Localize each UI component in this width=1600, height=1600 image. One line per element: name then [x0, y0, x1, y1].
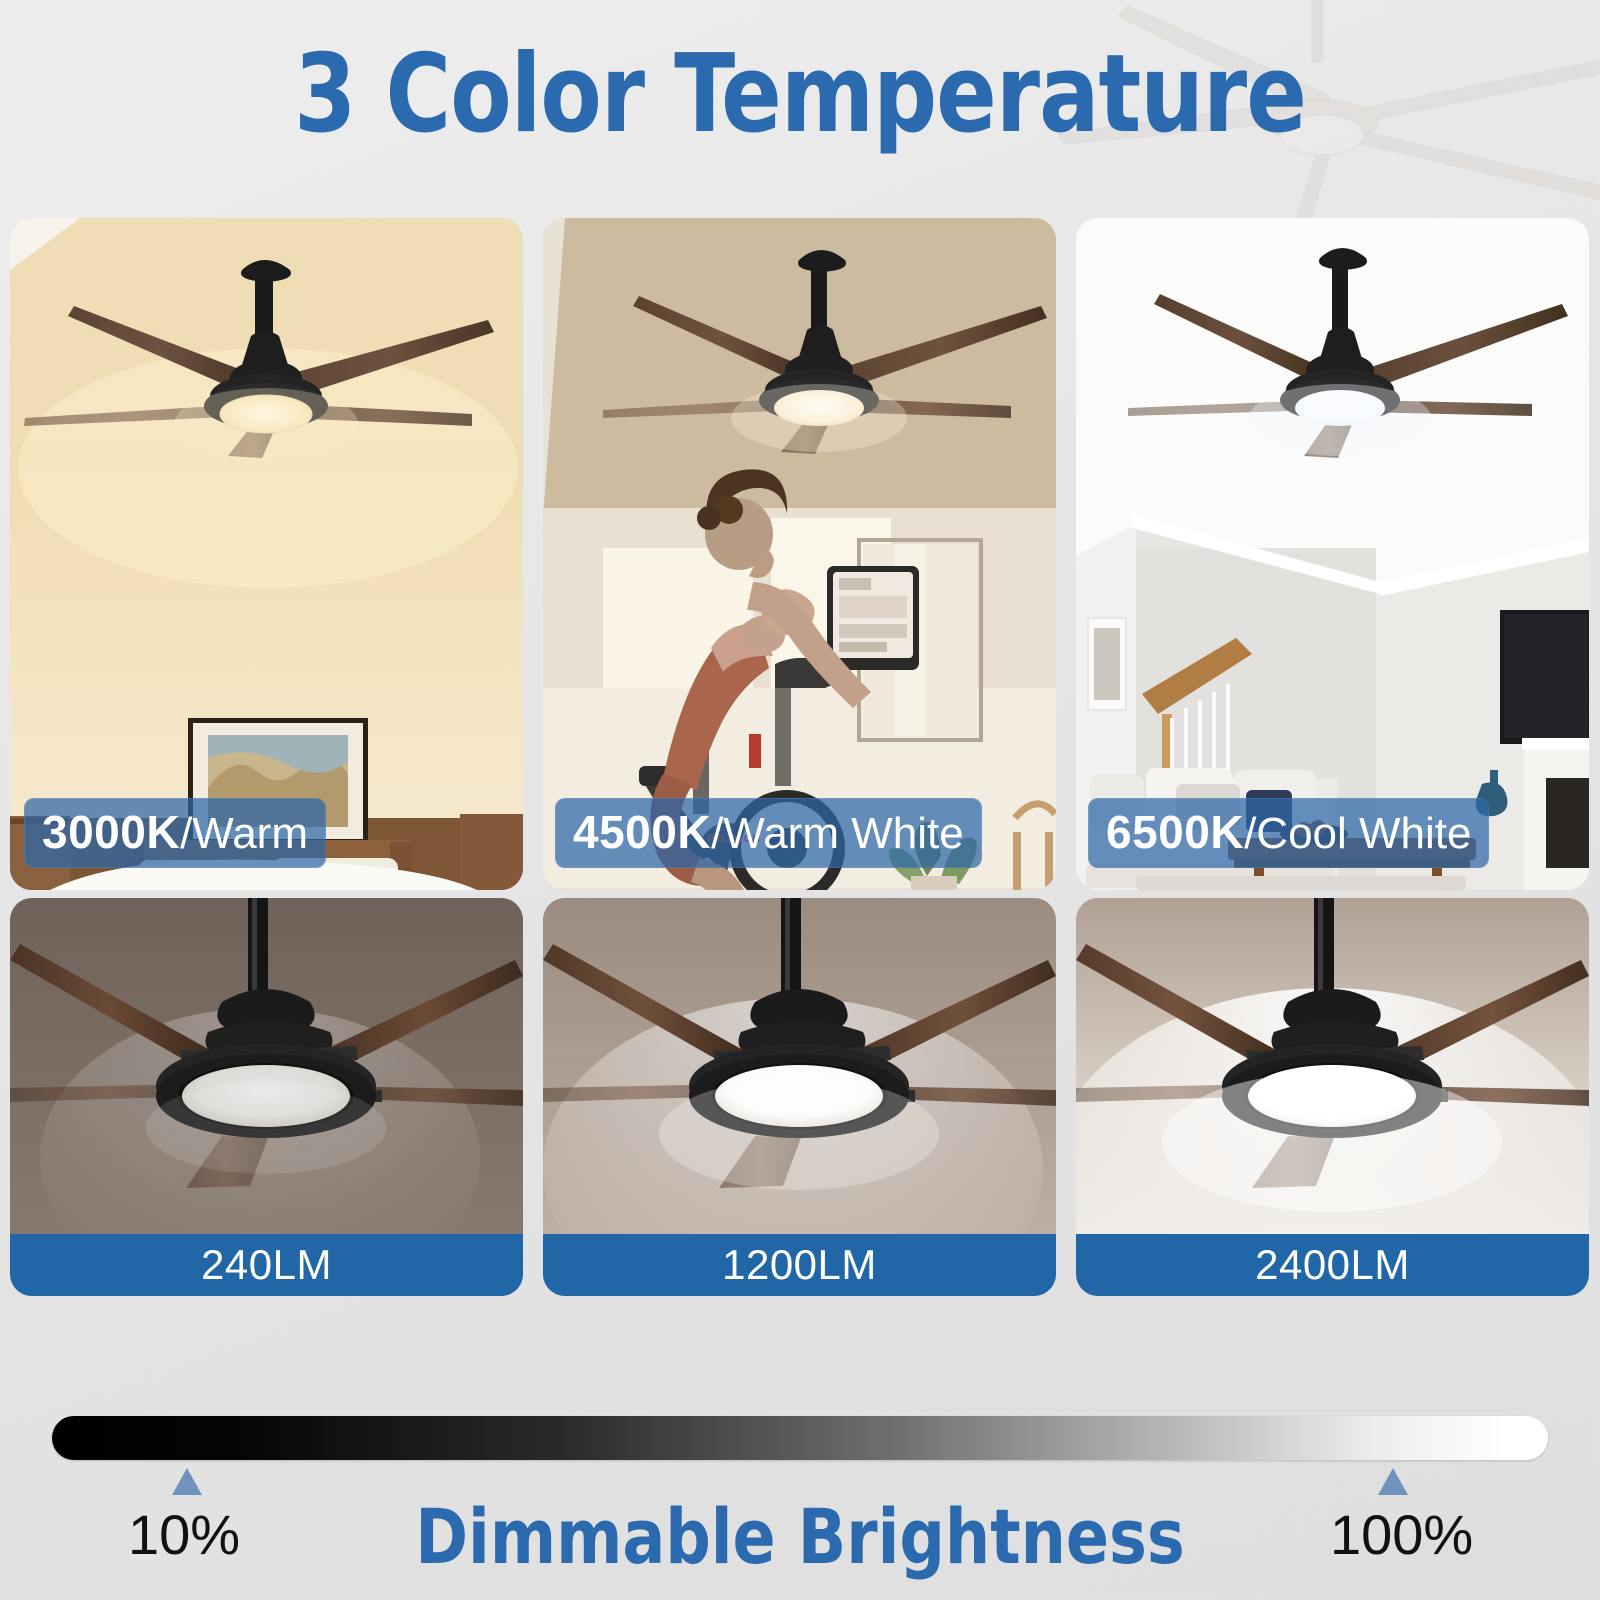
brightness-card-240lm[interactable]: 240LM: [10, 898, 523, 1296]
brightness-label-1200lm: 1200LM: [543, 1234, 1056, 1296]
ceiling-fan-overlay: [543, 218, 1056, 890]
page-header: 3 Color Temperature: [0, 38, 1600, 151]
kelvin-name: Cool White: [1256, 809, 1471, 859]
lumen-value: 2400LM: [1255, 1241, 1410, 1289]
brightness-card-2400lm[interactable]: 2400LM: [1076, 898, 1589, 1296]
brightness-card-1200lm[interactable]: 1200LM: [543, 898, 1056, 1296]
brightness-gradient-track[interactable]: [52, 1416, 1548, 1460]
page-title: 3 Color Temperature: [64, 38, 1536, 151]
lumen-value: 240LM: [201, 1241, 332, 1289]
color-temperature-label-cool-white: 6500K / Cool White: [1088, 798, 1489, 868]
color-temperature-card-warm-white[interactable]: PELOTON: [543, 218, 1056, 890]
feature-grid: 3000K / Warm: [10, 218, 1590, 1296]
color-temperature-row: 3000K / Warm: [10, 218, 1590, 890]
dimmer-title: Dimmable Brightness: [56, 1492, 1544, 1581]
brightness-min-marker-icon: [172, 1468, 202, 1495]
bedroom-scene: [10, 218, 523, 890]
color-temperature-card-warm[interactable]: 3000K / Warm: [10, 218, 523, 890]
living-room-scene: [1076, 218, 1589, 890]
dimmer-section: 10% 100% Dimmable Brightness: [0, 1400, 1600, 1600]
brightness-row: 240LM: [10, 898, 1590, 1296]
kelvin-name: Warm: [192, 809, 308, 859]
brightness-label-240lm: 240LM: [10, 1234, 523, 1296]
color-temperature-card-cool-white[interactable]: 6500K / Cool White: [1076, 218, 1589, 890]
brightness-max-marker-icon: [1378, 1468, 1408, 1495]
kelvin-value: 3000K: [42, 805, 180, 859]
kelvin-value: 6500K: [1106, 805, 1244, 859]
lumen-value: 1200LM: [722, 1241, 877, 1289]
kelvin-separator: /: [180, 809, 192, 859]
color-temperature-label-warm: 3000K / Warm: [24, 798, 326, 868]
kelvin-separator: /: [1244, 809, 1256, 859]
brightness-label-2400lm: 2400LM: [1076, 1234, 1589, 1296]
